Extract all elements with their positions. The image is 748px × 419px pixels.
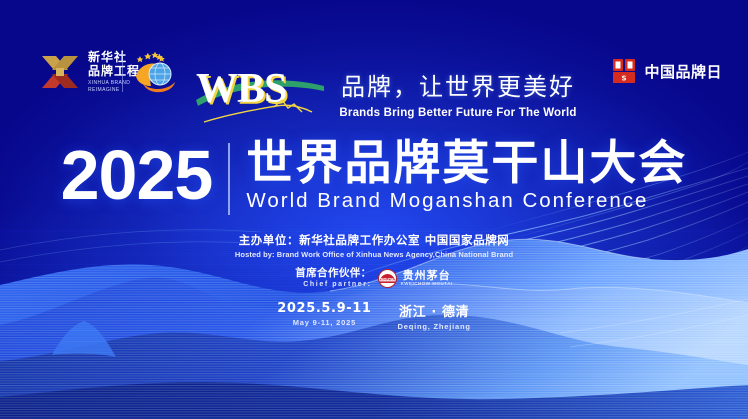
date-block: 2025.5.9-11 May 9-11, 2025 [277, 301, 371, 327]
location-block: 浙江 · 德清 Deqing, Zhejiang [398, 301, 471, 331]
xinhua-brand-logo: 新华社 品牌工程 XINHUA BRAND REIMAGINE [38, 48, 140, 96]
logo-divider [122, 52, 123, 92]
china-brand-day-logo: S 中国品牌日 [611, 56, 722, 86]
kweichow-moutai-logo-icon: MOUTAI [378, 269, 397, 288]
svg-text:WBS: WBS [196, 66, 286, 112]
title-cn: 世界品牌莫干山大会 [246, 140, 687, 188]
info-block: 主办单位：新华社品牌工作办公室 中国国家品牌网 Hosted by: Brand… [0, 232, 748, 331]
chief-partner-label: 首席合作伙伴： Chief partner: [295, 268, 371, 289]
title-en: World Brand Moganshan Conference [246, 189, 687, 213]
date-location-row: 2025.5.9-11 May 9-11, 2025 浙江 · 德清 Deqin… [0, 301, 748, 331]
date-cn: 2025.5.9-11 [277, 301, 371, 316]
title-divider [228, 143, 230, 215]
wbs-mountain-logo-icon: WBS WBS [196, 64, 324, 126]
conference-poster: 新华社 品牌工程 XINHUA BRAND REIMAGINE [0, 0, 748, 419]
chief-partner-label-cn: 首席合作伙伴： [295, 268, 371, 280]
title-text-group: 世界品牌莫干山大会 World Brand Moganshan Conferen… [246, 140, 687, 213]
host-en: Hosted by: Brand Work Office of Xinhua N… [0, 250, 748, 259]
tagline-block: 品牌，让世界更美好 Brands Bring Better Future For… [330, 74, 586, 119]
main-title-block: 2025 世界品牌莫干山大会 World Brand Moganshan Con… [0, 140, 748, 215]
chief-partner-label-en: Chief partner: [295, 281, 371, 289]
host-cn: 主办单位：新华社品牌工作办公室 中国国家品牌网 [0, 232, 748, 248]
svg-text:MOUTAI: MOUTAI [380, 277, 394, 281]
kweichow-moutai-text: 贵州茅台 KWEICHOW MOUTAI [401, 270, 453, 287]
place-cn: 浙江 · 德清 [398, 301, 471, 320]
date-en: May 9-11, 2025 [277, 318, 371, 327]
chief-partner-row: 首席合作伙伴： Chief partner: MOUTAI 贵州茅台 KWEIC… [0, 268, 748, 289]
tagline-en: Brands Bring Better Future For The World [330, 107, 586, 119]
china-brand-day-seal-icon: S [611, 56, 637, 86]
svg-text:S: S [622, 75, 627, 83]
china-brand-day-label: 中国品牌日 [644, 61, 722, 82]
tagline-cn: 品牌，让世界更美好 [330, 74, 586, 102]
place-en: Deqing, Zhejiang [398, 322, 471, 331]
xinhua-brand-mark-icon [38, 50, 82, 94]
china-national-brand-globe-icon [133, 50, 179, 94]
year-label: 2025 [61, 142, 213, 209]
partner-name-en: KWEICHOW MOUTAI [401, 282, 453, 287]
kweichow-moutai-logo: MOUTAI 贵州茅台 KWEICHOW MOUTAI [378, 269, 453, 288]
